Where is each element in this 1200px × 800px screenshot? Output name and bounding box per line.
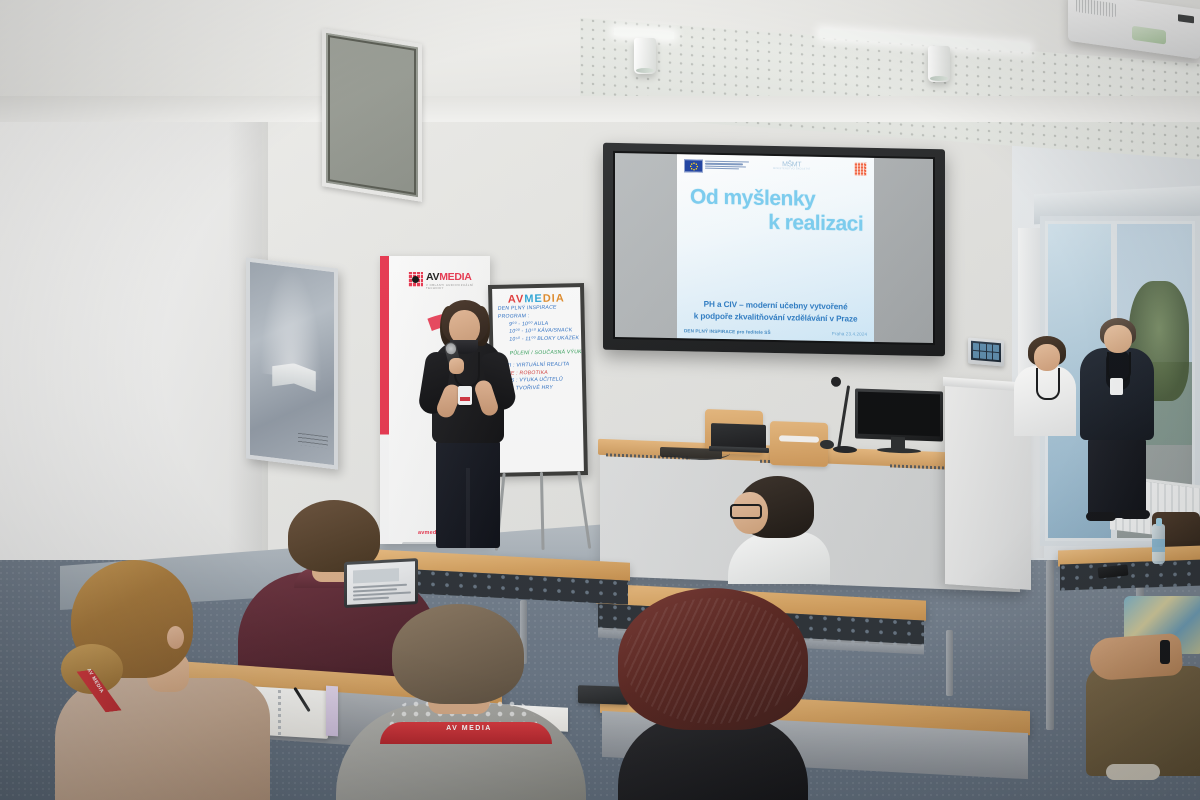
- flipchart-heading-c: DIA: [543, 292, 565, 304]
- laptop-lid: [711, 423, 766, 449]
- slide-subtitle: PH a CIV – moderní učebny vytvořené k po…: [684, 298, 867, 325]
- attendee-glasses: [718, 476, 830, 584]
- attendee-ear: [167, 626, 184, 649]
- projector-vent: [1076, 0, 1116, 17]
- eu-logo-text: [705, 160, 749, 170]
- attendee-shoe: [1106, 764, 1160, 780]
- observer-shoe: [1120, 510, 1150, 519]
- attendee-hair-texture: [624, 598, 802, 724]
- observer-white-shirt: [1014, 336, 1076, 436]
- attendee-grey-sweater: AV MEDIA: [336, 604, 586, 800]
- presenter-laptop[interactable]: [709, 423, 769, 455]
- laptop-base: [709, 446, 769, 453]
- slide-footer-left: DEN PLNÝ INSPIRACE pro ředitele SŠ: [684, 328, 771, 335]
- banner-brand-av: AV: [426, 271, 439, 283]
- attendee-hair: [392, 604, 524, 704]
- desk-monitor[interactable]: [855, 388, 943, 451]
- presenter-badge: [458, 386, 472, 405]
- presenter-hand: [449, 358, 464, 374]
- attendee-right-edge: [1078, 596, 1200, 800]
- projector-port: [1178, 14, 1194, 23]
- high-window-glass: [328, 35, 416, 195]
- poster-glow: [260, 263, 322, 381]
- slide-title-line-1: Od myšlenky: [684, 186, 867, 211]
- side-desk-modesty-panel: [1060, 560, 1200, 591]
- microphone-base: [833, 446, 857, 454]
- microphone-rod: [837, 385, 850, 450]
- presenter-leg-seam: [466, 468, 470, 548]
- framed-poster: [246, 257, 338, 469]
- attendee-beige-top: AV MEDIA: [55, 560, 270, 800]
- wall-control-touch-panel[interactable]: [968, 337, 1004, 366]
- banner-brand-media: MEDIA: [439, 271, 471, 283]
- monitor-panel: [855, 388, 943, 441]
- attendee-laptop-screen: [347, 561, 415, 605]
- eu-flag-icon: [684, 159, 703, 172]
- observer-legs: [1088, 436, 1146, 518]
- observer-lanyard: [1036, 368, 1060, 400]
- ministry-logo: MŠMT MINISTERSTVO ŠKOLSTVÍ: [773, 161, 810, 171]
- avmedia-logo-text: AVMEDIA V OBLASTI AUDIOVIZUÁLNÍ TECHNIKY: [426, 268, 490, 290]
- flipchart-heading-b: ME: [524, 293, 543, 305]
- slide-title-line-2: k realizaci: [684, 210, 867, 235]
- attendee-body: [728, 532, 830, 584]
- observer-face: [1104, 325, 1132, 353]
- slide: MŠMT MINISTERSTVO ŠKOLSTVÍ Od myšlenky k…: [677, 154, 874, 342]
- eu-logo: [684, 159, 749, 173]
- water-bottle: [1152, 524, 1165, 564]
- avmedia-logo-icon: [408, 272, 423, 287]
- attendee-body: [55, 678, 270, 800]
- ceiling-bevel: [0, 96, 1200, 122]
- bottle-label: [1152, 539, 1165, 552]
- poster-caption: [298, 433, 328, 449]
- attendee-red-hair: [618, 588, 808, 800]
- wristwatch: [1160, 640, 1170, 664]
- observer-dark-jacket: [1080, 318, 1154, 518]
- presentation-display[interactable]: MŠMT MINISTERSTVO ŠKOLSTVÍ Od myšlenky k…: [603, 143, 945, 357]
- projector-lens: [1132, 26, 1166, 45]
- lanyard-text: AV MEDIA: [414, 725, 524, 732]
- display-panel: MŠMT MINISTERSTVO ŠKOLSTVÍ Od myšlenky k…: [615, 153, 933, 343]
- touch-panel-screen[interactable]: [971, 341, 1001, 363]
- slide-logo-row: MŠMT MINISTERSTVO ŠKOLSTVÍ: [684, 159, 867, 180]
- slide-footer: DEN PLNÝ INSPIRACE pro ředitele SŠ Praha…: [684, 328, 867, 338]
- eyeglasses-icon: [730, 504, 762, 519]
- observer-shoe: [1086, 512, 1116, 521]
- slide-subtitle-line-2: k podpoře zkvalitňování vzdělávání v Pra…: [684, 310, 867, 325]
- pendant-speaker-icon: [928, 46, 950, 82]
- observer-face: [1034, 344, 1060, 371]
- slide-footer-right: Praha 23.4.2024: [832, 331, 867, 337]
- slide-title: Od myšlenky k realizaci: [684, 186, 867, 235]
- gooseneck-microphone-icon: [830, 375, 858, 454]
- banner-tagline: V OBLASTI AUDIOVIZUÁLNÍ TECHNIKY: [426, 285, 490, 290]
- avmedia-logo: AVMEDIA V OBLASTI AUDIOVIZUÁLNÍ TECHNIKY: [408, 268, 490, 290]
- high-interior-window: [322, 28, 422, 202]
- prague-logo-icon: [854, 163, 867, 176]
- observer-badge: [1110, 378, 1123, 395]
- attendee-legs: [1086, 666, 1200, 776]
- classroom-photo-scene: MŠMT MINISTERSTVO ŠKOLSTVÍ Od myšlenky k…: [0, 0, 1200, 800]
- pendant-speaker-icon: [634, 38, 656, 74]
- laptop-screen-image: [353, 568, 399, 583]
- ministry-logo-sub: MINISTERSTVO ŠKOLSTVÍ: [773, 168, 810, 171]
- microphone-capsule: [831, 377, 841, 387]
- attendee-laptop-lid: [344, 558, 418, 608]
- notebook-rings: [278, 690, 281, 736]
